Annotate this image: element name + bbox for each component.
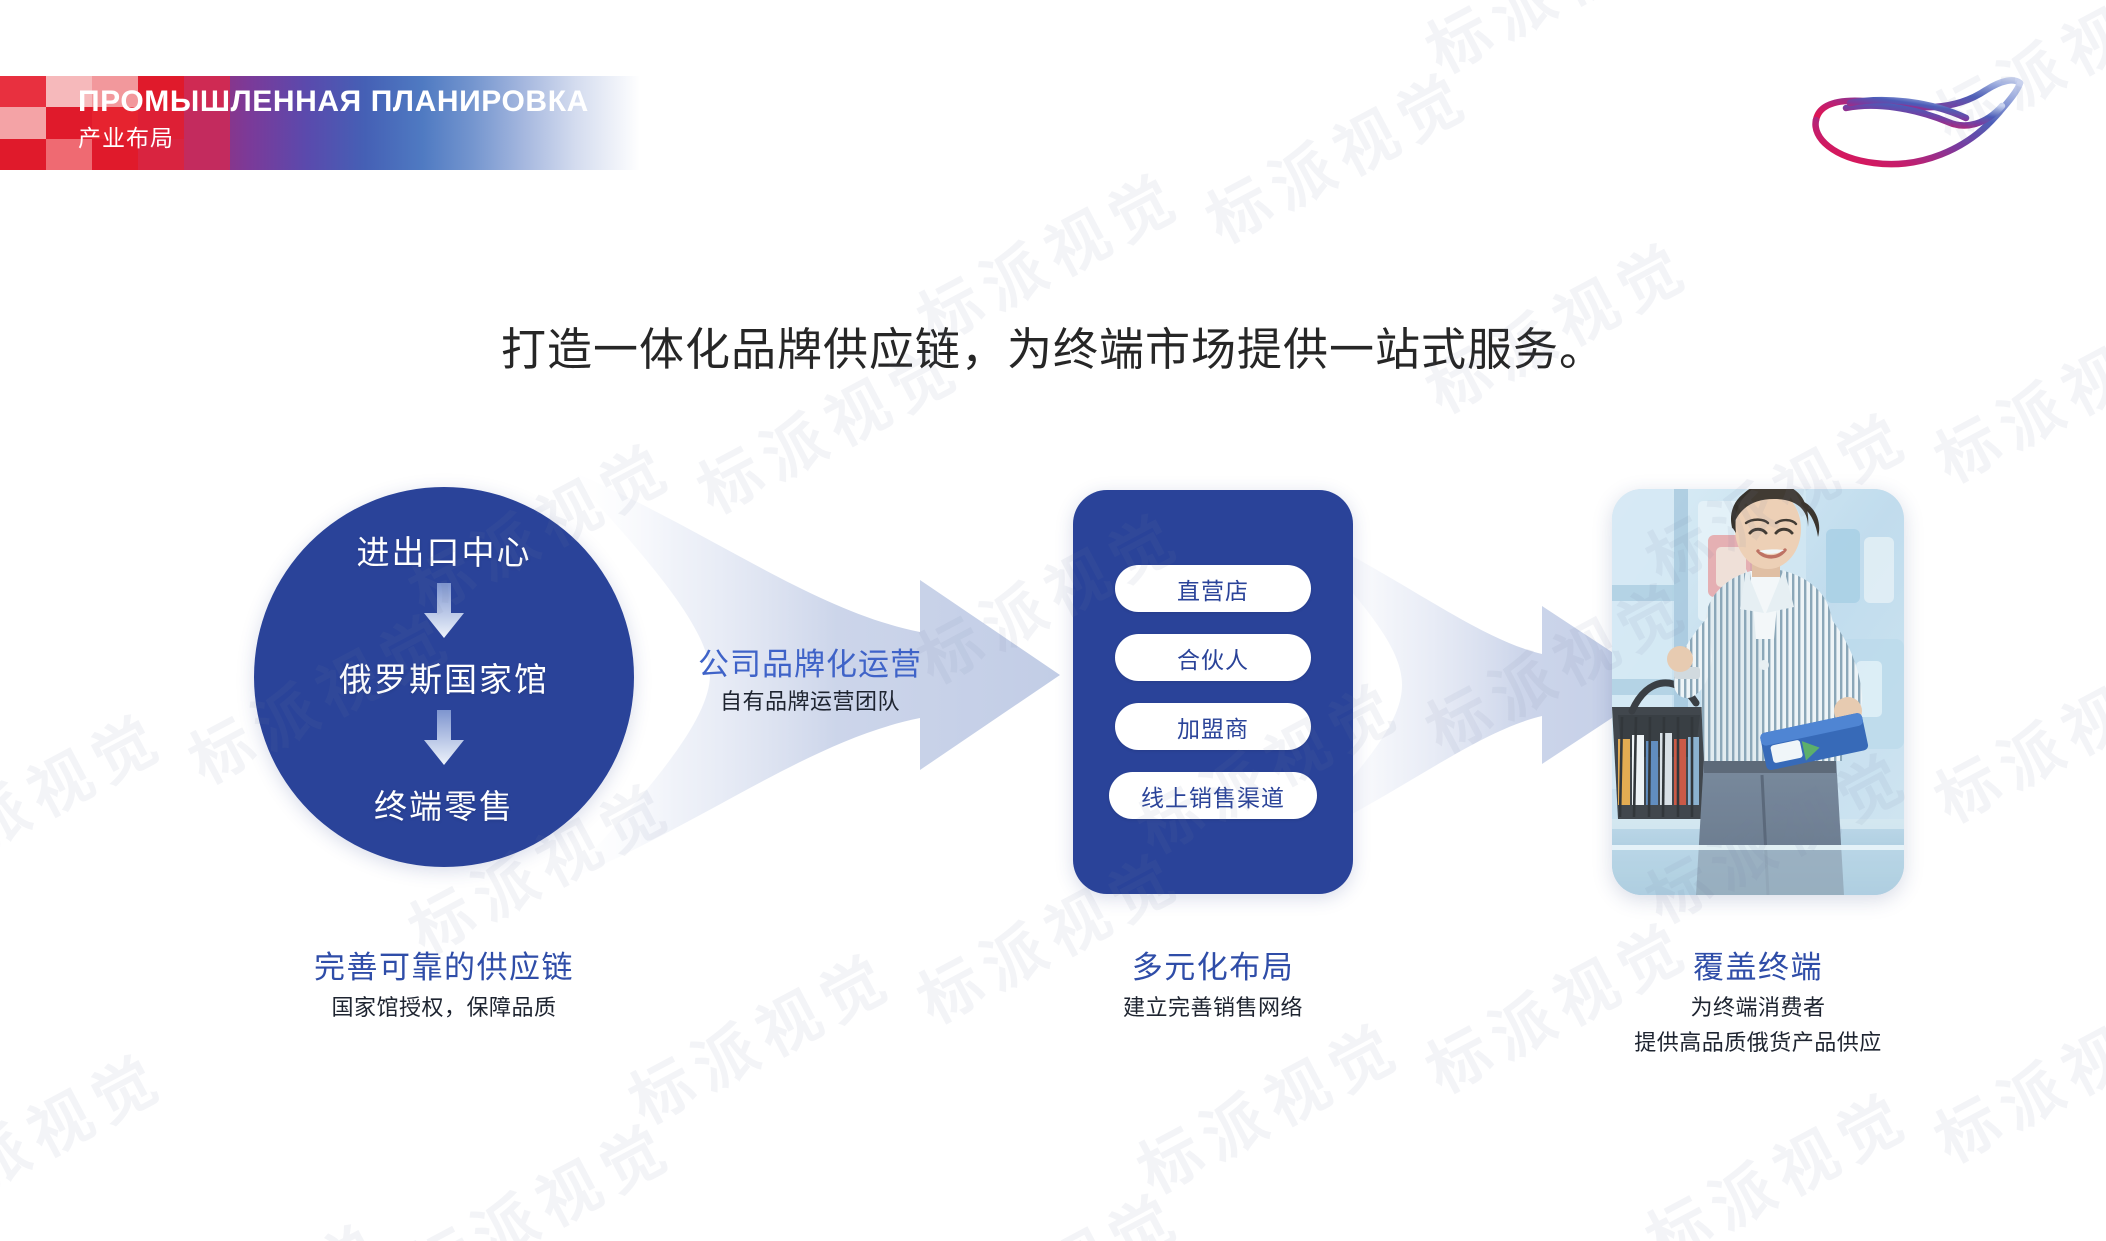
retail-consumer-photo [1612,489,1904,895]
circle-step-1: 进出口中心 [357,526,532,574]
caption-line: 为终端消费者 [1508,991,2008,1026]
arrow-subtitle: 自有品牌运营团队 [660,686,960,720]
channel-box[interactable]: 直营店 合伙人 加盟商 线上销售渠道 [1073,490,1353,894]
caption-title: 覆盖终端 [1508,945,2008,991]
dove-bird-logo [1790,58,2040,180]
header-title-cn: 产业布局 [78,122,589,156]
channel-pill-direct-store[interactable]: 直营店 [1115,565,1311,612]
caption-title: 多元化布局 [1003,945,1423,991]
header-banner: ПРОМЫШЛЕННАЯ ПЛАНИРОВКА 产业布局 [0,76,640,170]
caption-supply-chain: 完善可靠的供应链 国家馆授权，保障品质 [194,945,694,1026]
caption-line: 建立完善销售网络 [1003,991,1423,1026]
page-headline: 打造一体化品牌供应链，为终端市场提供一站式服务。 [0,313,2106,378]
arrow-down-icon [422,583,466,644]
arrow-title: 公司品牌化运营 [660,644,960,686]
circle-step-2: 俄罗斯国家馆 [339,653,549,701]
channel-pill-online-channel[interactable]: 线上销售渠道 [1109,772,1317,819]
caption-line: 国家馆授权，保障品质 [194,991,694,1026]
channel-pill-partner[interactable]: 合伙人 [1115,634,1311,681]
header-title-ru: ПРОМЫШЛЕННАЯ ПЛАНИРОВКА [78,82,589,122]
slide-canvas: ПРОМЫШЛЕННАЯ ПЛАНИРОВКА 产业布局 [0,0,2106,1241]
caption-line: 提供高品质俄货产品供应 [1508,1026,2008,1061]
caption-title: 完善可靠的供应链 [194,945,694,991]
supply-chain-circle[interactable]: 进出口中心 俄罗斯国家馆 [254,487,634,867]
brand-operation-arrow-label: 公司品牌化运营 自有品牌运营团队 [660,644,960,720]
channel-pill-franchisee[interactable]: 加盟商 [1115,703,1311,750]
circle-step-3: 终端零售 [374,780,514,828]
arrow-down-icon [422,710,466,771]
caption-cover-terminal: 覆盖终端 为终端消费者 提供高品质俄货产品供应 [1508,945,2008,1061]
caption-diversified-layout: 多元化布局 建立完善销售网络 [1003,945,1423,1026]
diagram-stage: 公司品牌化运营 自有品牌运营团队 进出口中心 [0,0,2106,1241]
header-text-block: ПРОМЫШЛЕННАЯ ПЛАНИРОВКА 产业布局 [78,82,589,156]
